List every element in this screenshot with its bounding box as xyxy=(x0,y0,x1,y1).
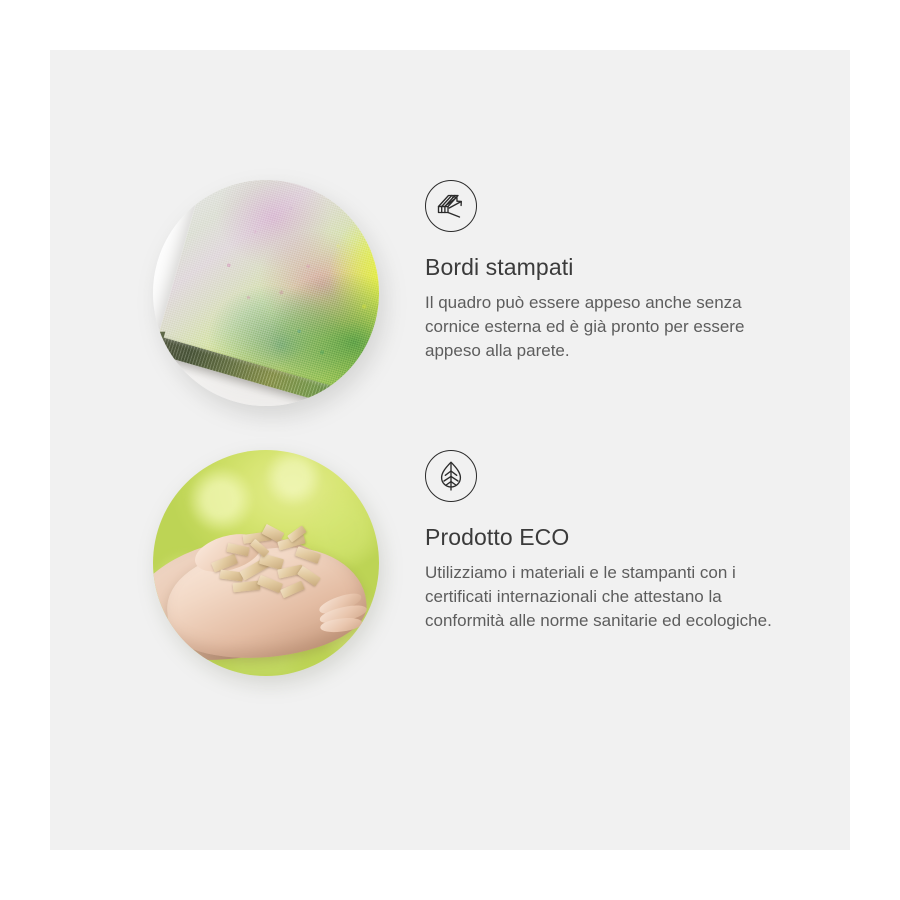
canvas-corner-photo xyxy=(153,180,379,406)
feature-title: Prodotto ECO xyxy=(425,524,800,552)
wood-chip xyxy=(295,546,321,564)
eco-media: Mani che tengono trucioli di legno su sf… xyxy=(153,450,379,676)
printed-edges-copy: Bordi stampati Il quadro può essere appe… xyxy=(425,180,800,363)
canvas-corner-media: Angolo di un quadro su tela con bordo st… xyxy=(153,180,379,406)
content-panel: Angolo di un quadro su tela con bordo st… xyxy=(50,50,850,850)
feature-printed-edges: Angolo di un quadro su tela con bordo st… xyxy=(50,180,850,450)
wood-chip xyxy=(280,581,305,599)
product-feature-page: Angolo di un quadro su tela con bordo st… xyxy=(0,0,900,900)
eco-product-copy: Prodotto ECO Utilizziamo i materiali e l… xyxy=(425,450,800,633)
canvas-block xyxy=(157,180,379,403)
feature-description: Il quadro può essere appeso anche senza … xyxy=(425,291,800,363)
feature-description: Utilizziamo i materiali e le stampanti c… xyxy=(425,561,800,633)
wrapped-canvas-edge-icon xyxy=(425,180,477,232)
leaf-icon xyxy=(425,450,477,502)
hands-with-wood-chips-photo xyxy=(153,450,379,676)
feature-title: Bordi stampati xyxy=(425,254,800,282)
canvas-image-alt: Angolo di un quadro su tela con bordo st… xyxy=(153,180,154,181)
wood-chip-pile xyxy=(207,527,334,604)
feature-eco-product: Mani che tengono trucioli di legno su sf… xyxy=(50,450,850,720)
wood-chip xyxy=(232,581,259,593)
